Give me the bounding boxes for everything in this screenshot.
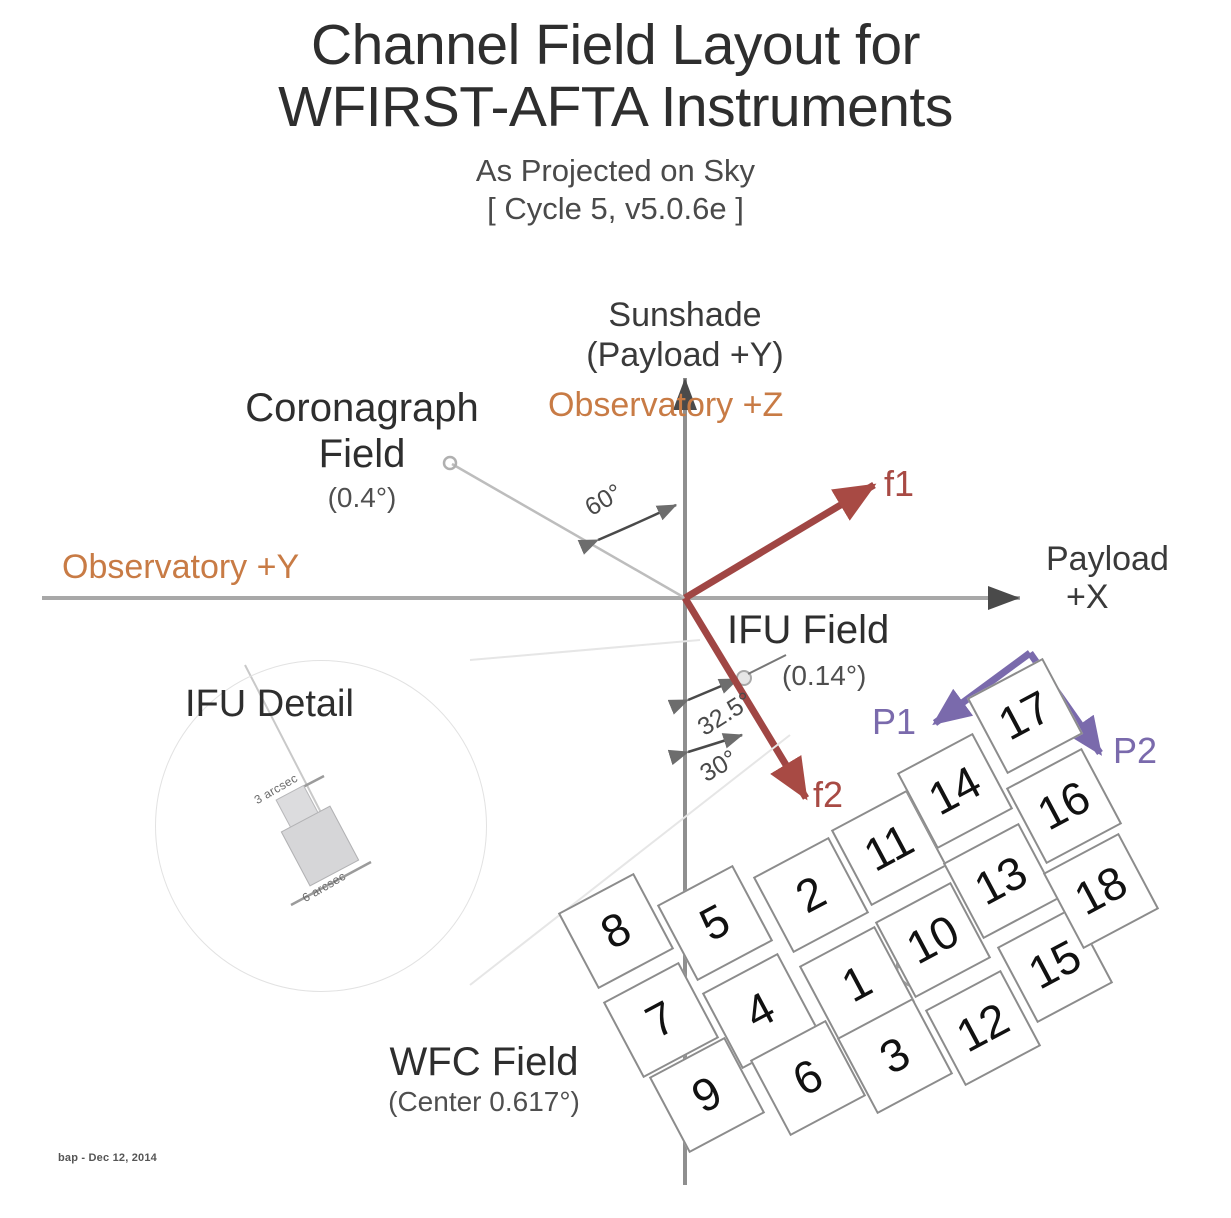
wfc-detector-number: 11 (855, 812, 923, 882)
wfc-detector-tile: 8 (558, 873, 674, 989)
wfc-detector-number: 6 (784, 1047, 832, 1107)
wfc-detector-number: 2 (787, 864, 835, 924)
wfc-detector-number: 3 (871, 1025, 919, 1085)
wfc-detector-number: 9 (683, 1064, 731, 1124)
wfc-detector-grid: 875492161110314131217161518 (0, 0, 1231, 1218)
wfc-detector-number: 18 (1065, 854, 1136, 926)
wfc-detector-number: 4 (736, 980, 784, 1040)
wfc-detector-number: 13 (965, 844, 1036, 916)
wfc-detector-number: 10 (897, 903, 968, 975)
wfc-detector-number: 1 (833, 953, 881, 1013)
ifu-detail-title: IFU Detail (185, 683, 354, 726)
wfc-detector-number: 8 (592, 900, 640, 960)
wfc-detector-number: 7 (637, 989, 685, 1049)
wfc-detector-number: 12 (947, 991, 1018, 1063)
wfc-detector-number: 5 (691, 892, 739, 952)
diagram-page: Channel Field Layout for WFIRST-AFTA Ins… (0, 0, 1231, 1218)
wfc-detector-number: 16 (1028, 769, 1099, 841)
wfc-detector-number: 17 (989, 679, 1060, 751)
author-date-credit: bap - Dec 12, 2014 (58, 1152, 157, 1164)
wfc-detector-number: 14 (919, 754, 990, 826)
